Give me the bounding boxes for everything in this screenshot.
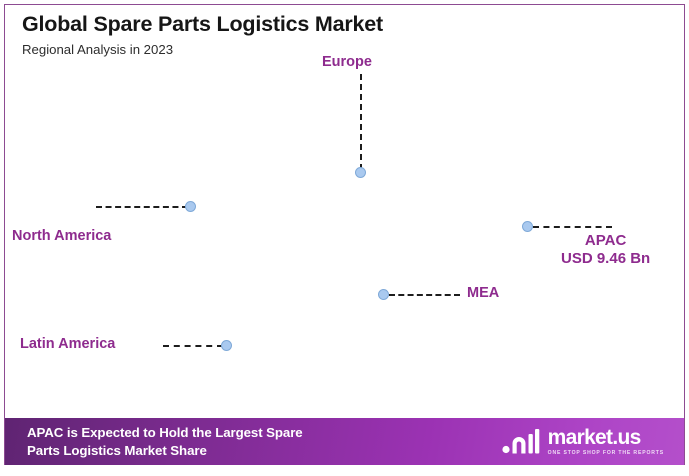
footer-callout-line-1: APAC is Expected to Hold the Largest Spa… xyxy=(27,424,303,441)
region-label-europe-text: Europe xyxy=(322,54,372,70)
region-label-north-america: North America xyxy=(12,228,111,246)
brand-logo[interactable]: market.us ONE STOP SHOP FOR THE REPORTS xyxy=(501,427,670,457)
map-marker-latin-america[interactable] xyxy=(221,340,232,351)
footer-callout-line-2: Parts Logistics Market Share xyxy=(27,442,303,459)
region-label-latin-america-text: Latin America xyxy=(20,336,115,352)
map-marker-europe[interactable] xyxy=(355,167,366,178)
region-label-north-america-text: North America xyxy=(12,228,111,244)
market-us-logo-icon xyxy=(501,427,541,457)
map-marker-north-america[interactable] xyxy=(185,201,196,212)
region-label-apac: APAC USD 9.46 Bn xyxy=(561,232,650,269)
map-marker-mea[interactable] xyxy=(378,289,389,300)
region-value-apac: USD 9.46 Bn xyxy=(561,250,650,268)
infographic-card: Global Spare Parts Logistics Market Regi… xyxy=(0,0,689,476)
footer-banner: APAC is Expected to Hold the Largest Spa… xyxy=(5,418,684,465)
brand-name: market.us xyxy=(548,427,664,448)
region-label-apac-text: APAC xyxy=(561,232,650,250)
map-marker-apac[interactable] xyxy=(522,221,533,232)
region-label-europe: Europe xyxy=(322,54,372,72)
header: Global Spare Parts Logistics Market Regi… xyxy=(22,12,622,57)
footer-callout: APAC is Expected to Hold the Largest Spa… xyxy=(27,424,303,458)
region-label-mea-text: MEA xyxy=(467,285,499,301)
page-title: Global Spare Parts Logistics Market xyxy=(22,12,622,37)
brand-tagline: ONE STOP SHOP FOR THE REPORTS xyxy=(548,450,664,456)
region-label-mea: MEA xyxy=(467,285,499,303)
region-label-latin-america: Latin America xyxy=(20,336,115,354)
brand-text: market.us ONE STOP SHOP FOR THE REPORTS xyxy=(548,427,664,456)
